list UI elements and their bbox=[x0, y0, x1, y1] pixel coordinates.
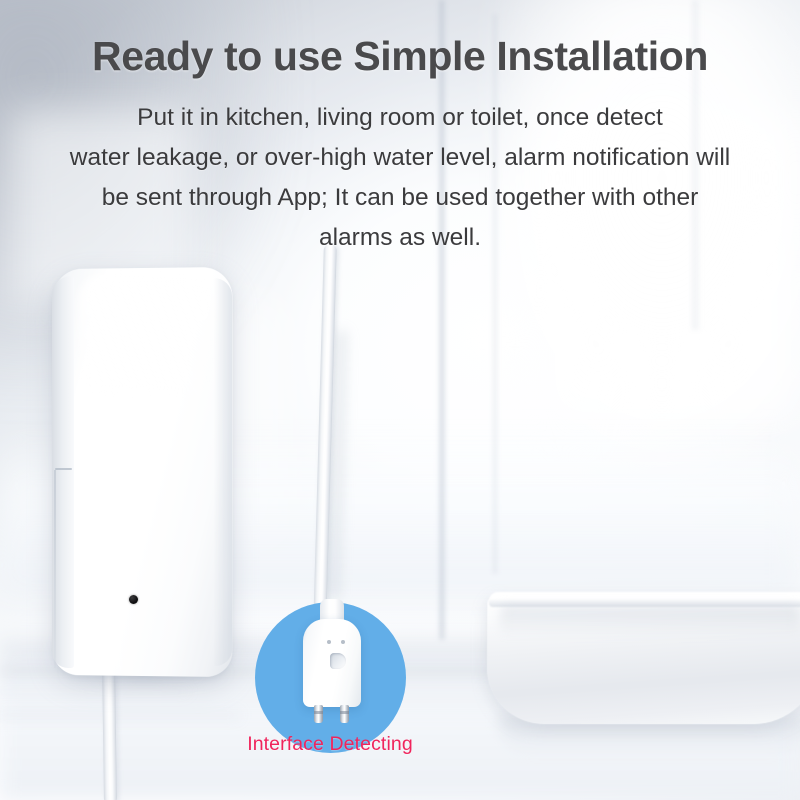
probe-indent-marking bbox=[330, 653, 346, 669]
description-line: be sent through App; It can be used toge… bbox=[34, 178, 766, 218]
description-line: Put it in kitchen, living room or toilet… bbox=[34, 98, 766, 138]
bathtub-rim bbox=[489, 592, 800, 607]
background-shelf-line-1 bbox=[0, 712, 240, 718]
sensor-seam-notch bbox=[55, 468, 72, 470]
glass-panel-divider-1 bbox=[438, 0, 447, 640]
probe-contact-pin-left bbox=[314, 705, 323, 723]
probe-vent-hole-left bbox=[327, 640, 331, 644]
probe-pin-band-right bbox=[340, 711, 349, 714]
led-indicator-icon bbox=[129, 595, 138, 604]
sensor-seam-vertical bbox=[54, 470, 56, 668]
probe-vent-hole-right bbox=[341, 640, 345, 644]
description-line: water leakage, or over-high water level,… bbox=[34, 138, 766, 178]
probe-contact-pin-right bbox=[340, 705, 349, 723]
description-paragraph: Put it in kitchen, living room or toilet… bbox=[34, 98, 766, 258]
callout-label-interface-detecting: Interface Detecting bbox=[180, 733, 480, 756]
water-detection-probe bbox=[303, 619, 361, 717]
probe-pin-band-left bbox=[314, 711, 323, 714]
sensor-highlight bbox=[78, 274, 214, 394]
page-title: Ready to use Simple Installation bbox=[0, 33, 800, 80]
product-marketing-image: Interface Detecting Ready to use Simple … bbox=[0, 0, 800, 800]
sensor-right-edge bbox=[214, 278, 232, 666]
bathtub-inner-shadow bbox=[500, 606, 800, 636]
description-line: alarms as well. bbox=[34, 218, 766, 258]
background-shelf-line-2 bbox=[0, 690, 190, 694]
water-leak-sensor-device bbox=[52, 268, 232, 676]
